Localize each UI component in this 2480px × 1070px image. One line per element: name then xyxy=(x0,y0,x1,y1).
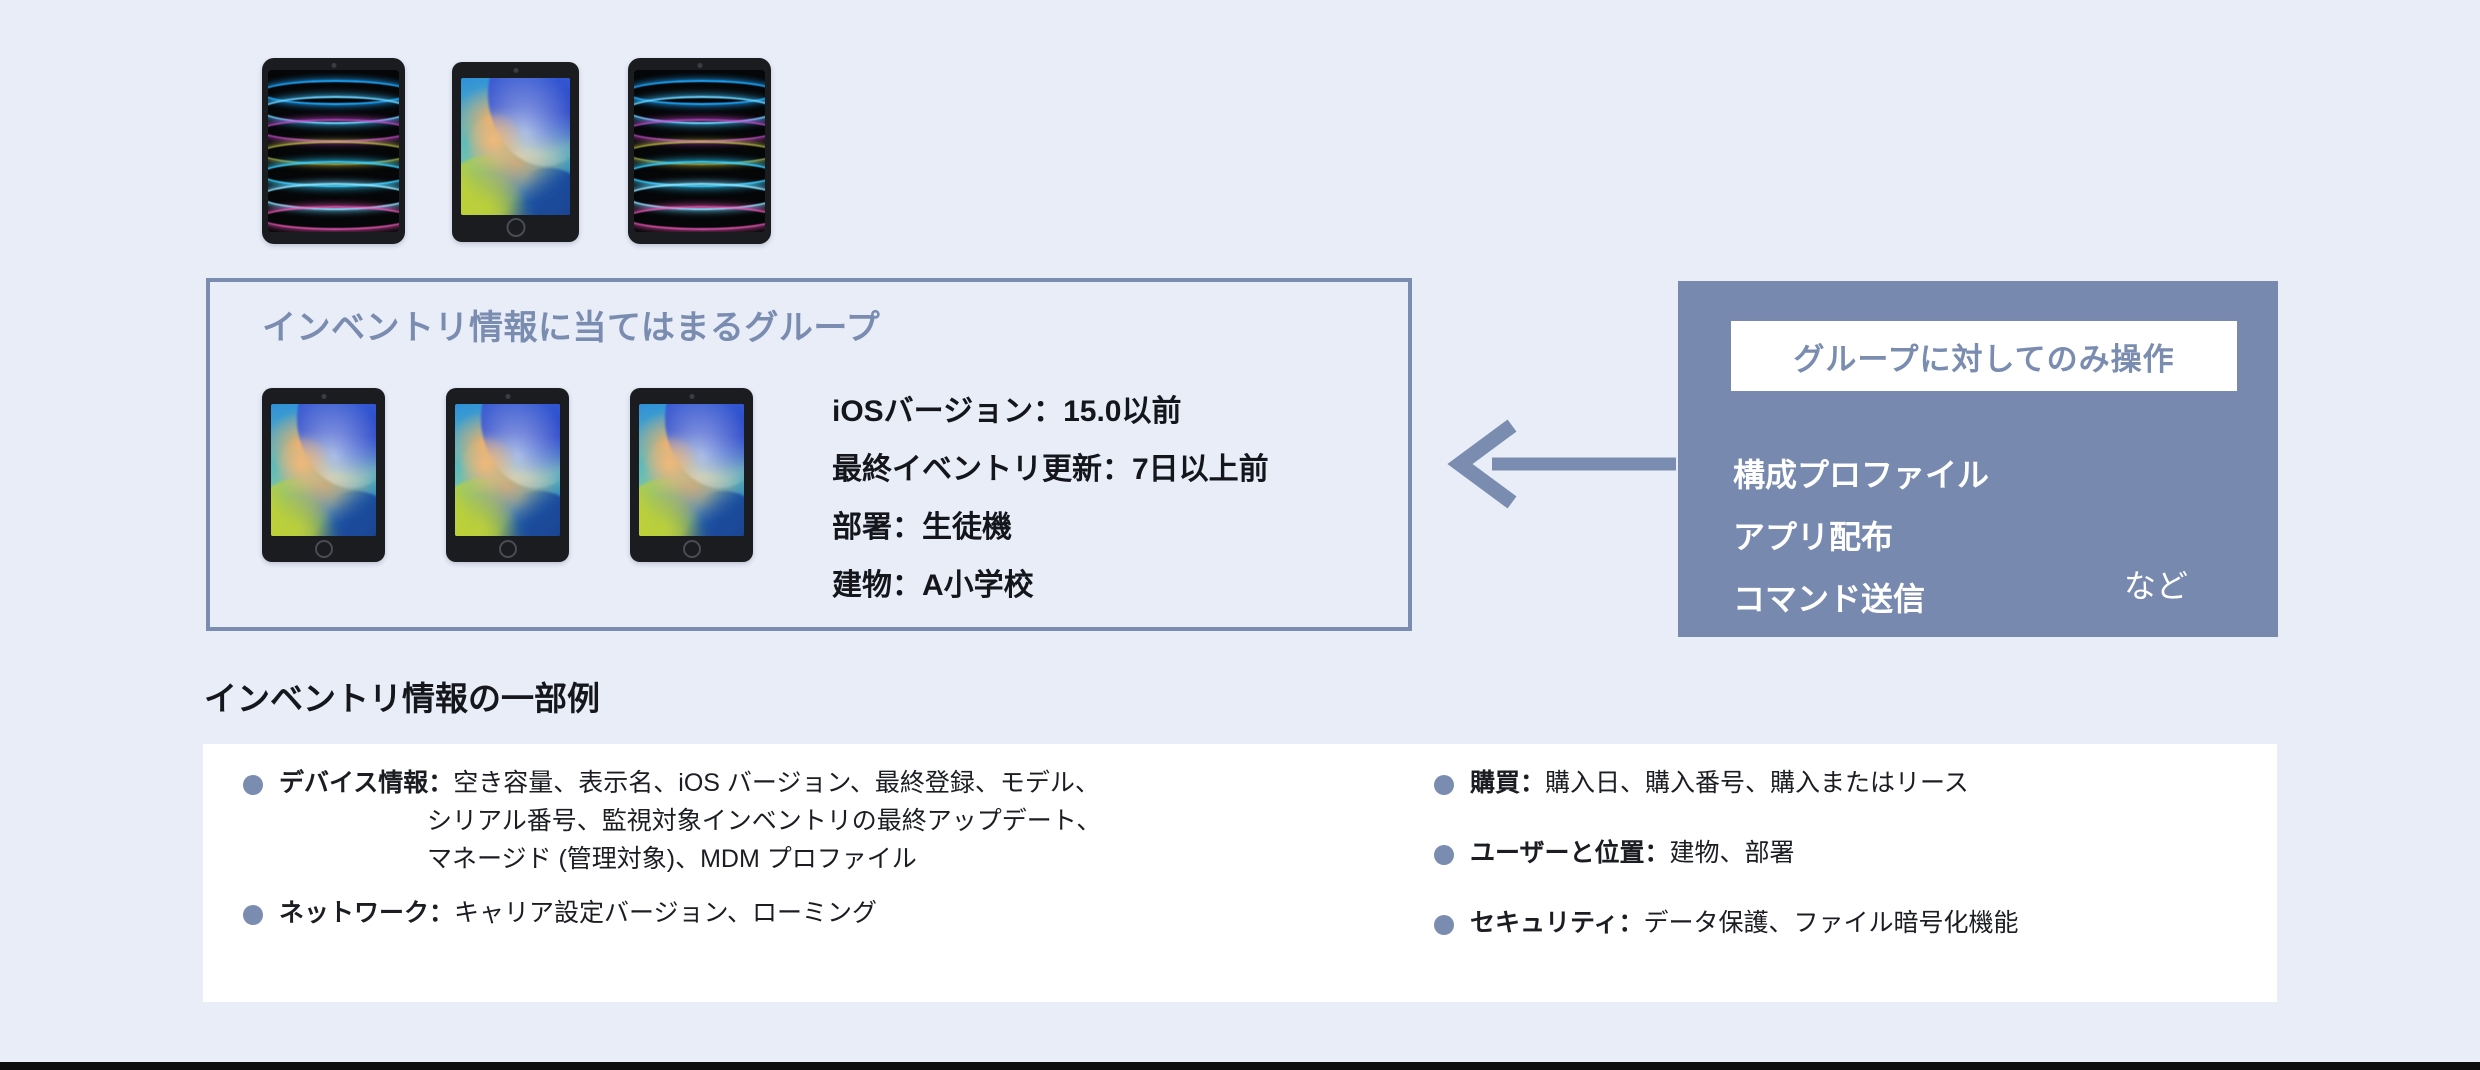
group-spec-last-inventory: 最終イベントリ更新：7日以上前 xyxy=(832,441,1269,499)
bullet-icon xyxy=(243,775,263,795)
wallpaper-gradient xyxy=(461,78,570,215)
slide-canvas: インベントリ情報に当てはまるグループ xyxy=(0,0,2480,1070)
action-etc-label: など xyxy=(2124,566,2188,606)
bullet-icon xyxy=(1434,845,1454,865)
device-group-3 xyxy=(630,388,753,562)
group-actions-heading: グループに対してのみ操作 xyxy=(1793,334,2174,379)
device-group-1 xyxy=(262,388,385,562)
list-item: ネットワーク：キャリア設定バージョン、ローミング xyxy=(243,894,1433,932)
list-item-text: 建物、部署 xyxy=(1670,839,1795,867)
list-item-text: データ保護、ファイル暗号化機能 xyxy=(1644,909,2019,937)
list-item-lead: ユーザーと位置： xyxy=(1470,839,1670,867)
device-ipad-pro-left xyxy=(262,58,405,244)
action-item-app-distribution: アプリ配布 xyxy=(1733,506,1989,568)
group-box-title: インベントリ情報に当てはまるグループ xyxy=(262,306,880,350)
device-ipad-center xyxy=(452,62,579,242)
list-item-lead: 購買： xyxy=(1470,769,1545,797)
list-item-lead: セキュリティ： xyxy=(1470,909,1644,937)
wallpaper-gradient xyxy=(455,404,560,536)
wallpaper-wave xyxy=(634,70,765,232)
wallpaper-wave xyxy=(268,70,399,232)
arrow-left xyxy=(1436,416,1676,512)
list-item-lead: ネットワーク： xyxy=(279,899,454,927)
list-item-text: マネージド (管理対象)、MDM プロファイル xyxy=(279,840,1101,878)
inventory-left-column: デバイス情報：空き容量、表示名、iOS バージョン、最終登録、モデル、 シリアル… xyxy=(243,764,1433,932)
wallpaper-gradient xyxy=(639,404,744,536)
list-item-text: キャリア設定バージョン、ローミング xyxy=(454,899,877,927)
group-actions-list: 構成プロファイル アプリ配布 コマンド送信 xyxy=(1733,444,1989,630)
device-ipad-pro-right xyxy=(628,58,771,244)
device-group-2 xyxy=(446,388,569,562)
action-item-send-command: コマンド送信 xyxy=(1733,568,1989,630)
group-spec-list: iOSバージョン：15.0以前 最終イベントリ更新：7日以上前 部署：生徒機 建… xyxy=(832,383,1269,615)
list-item: デバイス情報：空き容量、表示名、iOS バージョン、最終登録、モデル、 シリアル… xyxy=(243,764,1433,878)
group-spec-building: 建物：A小学校 xyxy=(832,557,1269,615)
bottom-bar xyxy=(0,1062,2480,1070)
list-item-text: シリアル番号、監視対象インベントリの最終アップデート、 xyxy=(279,802,1101,840)
inventory-right-column: 購買：購入日、購入番号、購入またはリース ユーザーと位置：建物、部署 セキュリテ… xyxy=(1434,764,2264,942)
arrow-left-icon xyxy=(1436,416,1676,512)
list-item: セキュリティ：データ保護、ファイル暗号化機能 xyxy=(1434,904,2264,942)
list-item-lead: デバイス情報： xyxy=(279,769,453,797)
bullet-icon xyxy=(1434,775,1454,795)
bullet-icon xyxy=(1434,915,1454,935)
list-item-text: 購入日、購入番号、購入またはリース xyxy=(1545,769,1969,797)
action-item-config-profile: 構成プロファイル xyxy=(1733,444,1989,506)
group-spec-department: 部署：生徒機 xyxy=(832,499,1269,557)
wallpaper-gradient xyxy=(271,404,376,536)
inventory-section-heading: インベントリ情報の一部例 xyxy=(204,677,600,721)
bullet-icon xyxy=(243,905,263,925)
list-item: 購買：購入日、購入番号、購入またはリース xyxy=(1434,764,2264,802)
list-item: ユーザーと位置：建物、部署 xyxy=(1434,834,2264,872)
group-spec-ios-version: iOSバージョン：15.0以前 xyxy=(832,383,1269,441)
group-actions-heading-box: グループに対してのみ操作 xyxy=(1731,321,2237,391)
list-item-text: 空き容量、表示名、iOS バージョン、最終登録、モデル、 xyxy=(453,769,1100,797)
